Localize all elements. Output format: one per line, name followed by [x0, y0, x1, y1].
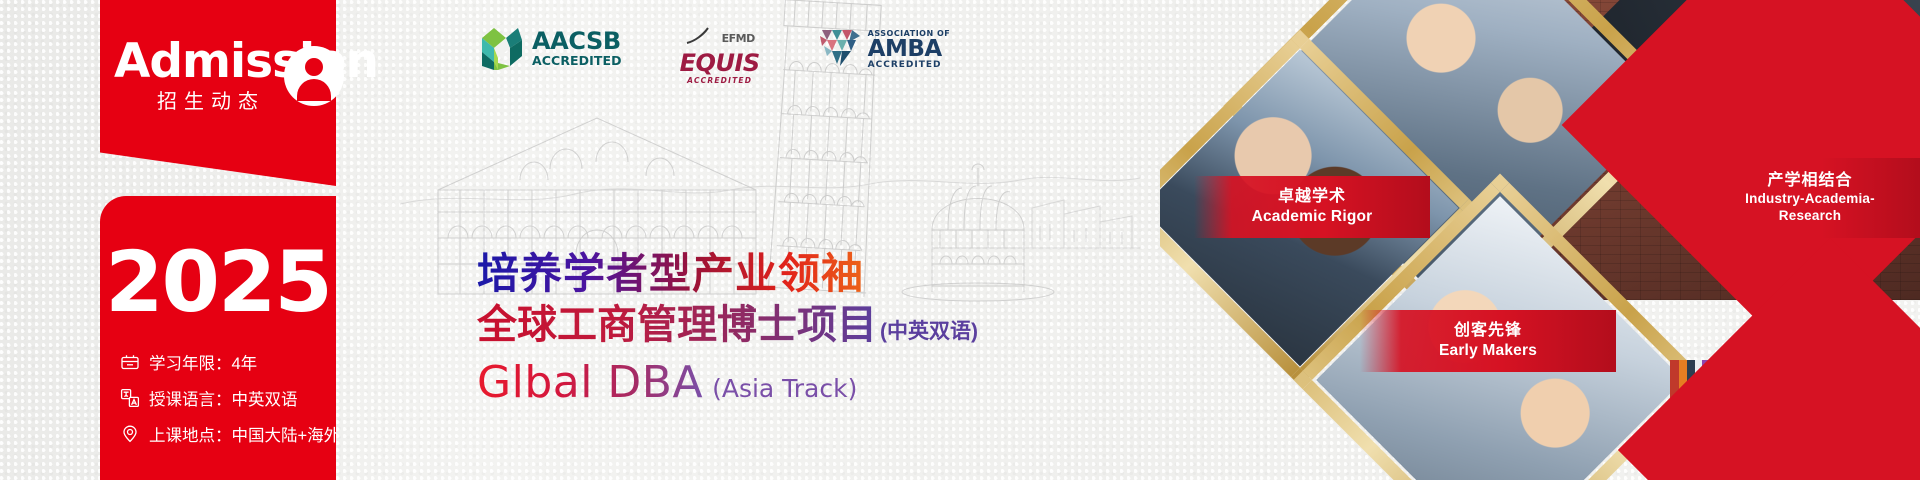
- equis-sub-text: ACCREDITED: [687, 76, 752, 85]
- language-icon: [120, 388, 140, 408]
- admission-banner: 2025 学习年限：4年: [0, 0, 1920, 480]
- calendar-icon: [120, 352, 140, 372]
- label-academic-rigor-cn: 卓越学术: [1204, 187, 1420, 207]
- headline-block: 培养学者型产业领袖 全球工商管理博士项目 (中英双语) Glbal DBA (A…: [477, 250, 978, 407]
- label-academic-rigor-en: Academic Rigor: [1204, 207, 1420, 226]
- label-industry-academia: 产学相结合 Industry-Academia- Research: [1700, 158, 1920, 238]
- accreditation-aacsb: AACSB ACCREDITED: [480, 26, 622, 70]
- headline-program-cn-main: 全球工商管理博士项目: [477, 303, 877, 349]
- headline-program-cn-sub: (中英双语): [880, 315, 978, 345]
- left-red-panel: 2025 学习年限：4年: [100, 0, 336, 480]
- accreditation-logos: AACSB ACCREDITED EFMD EQUIS ACCREDITED: [480, 26, 950, 85]
- info-row-language: 授课语言：中英双语: [120, 380, 336, 416]
- headline-program-en-main: Glbal DBA: [477, 359, 703, 407]
- equis-top-row: EFMD: [685, 26, 755, 51]
- info-row-duration: 学习年限：4年: [120, 344, 336, 380]
- amba-main-text: AMBA: [868, 38, 951, 61]
- info-text-location: 上课地点：中国大陆+海外: [149, 422, 340, 446]
- label-academic-rigor: 卓越学术 Academic Rigor: [1194, 176, 1430, 238]
- amba-diamond-icon: [818, 26, 862, 73]
- aacsb-sub-text: ACCREDITED: [532, 54, 622, 67]
- info-row-location: 上课地点：中国大陆+海外: [120, 416, 336, 452]
- equis-main-text: EQUIS: [680, 51, 760, 76]
- red-panel-bottom: 2025 学习年限：4年: [100, 196, 336, 480]
- efmd-swoosh-icon: [685, 26, 717, 51]
- accreditation-equis: EFMD EQUIS ACCREDITED: [680, 26, 760, 85]
- logo-chinese-text: 招生动态: [157, 85, 265, 114]
- headline-program-cn: 全球工商管理博士项目 (中英双语): [477, 303, 978, 349]
- amba-sub-text: ACCREDITED: [868, 61, 951, 70]
- info-text-duration: 学习年限：4年: [149, 350, 257, 374]
- admission-logo: Admission 招生动态: [114, 38, 338, 116]
- label-industry-academia-en-1: Industry-Academia-: [1710, 191, 1910, 208]
- label-early-makers-en: Early Makers: [1370, 341, 1606, 360]
- info-text-language: 授课语言：中英双语: [149, 386, 298, 410]
- label-early-makers-cn: 创客先锋: [1370, 321, 1606, 341]
- label-early-makers: 创客先锋 Early Makers: [1360, 310, 1616, 372]
- photo-collage: 卓越学术 Academic Rigor 产学相结合 Industry-Acade…: [1160, 0, 1920, 480]
- aacsb-main-text: AACSB: [532, 29, 622, 54]
- headline-program-en-sub: (Asia Track): [712, 374, 857, 403]
- efmd-text: EFMD: [722, 32, 755, 45]
- accreditation-amba: ASSOCIATION OF AMBA ACCREDITED: [818, 26, 951, 73]
- program-info-list: 学习年限：4年 授课语言：中英双语: [120, 344, 336, 452]
- person-avatar-icon: [284, 46, 344, 106]
- label-industry-academia-cn: 产学相结合: [1710, 171, 1910, 191]
- year-label: 2025: [100, 240, 336, 324]
- amba-wordmark: ASSOCIATION OF AMBA ACCREDITED: [868, 30, 951, 70]
- headline-program-en: Glbal DBA (Asia Track): [477, 359, 978, 407]
- location-pin-icon: [120, 424, 140, 444]
- aacsb-wordmark: AACSB ACCREDITED: [532, 29, 622, 67]
- aacsb-cube-icon: [480, 26, 524, 70]
- headline-tagline: 培养学者型产业领袖: [477, 250, 978, 297]
- label-industry-academia-en-2: Research: [1710, 208, 1910, 225]
